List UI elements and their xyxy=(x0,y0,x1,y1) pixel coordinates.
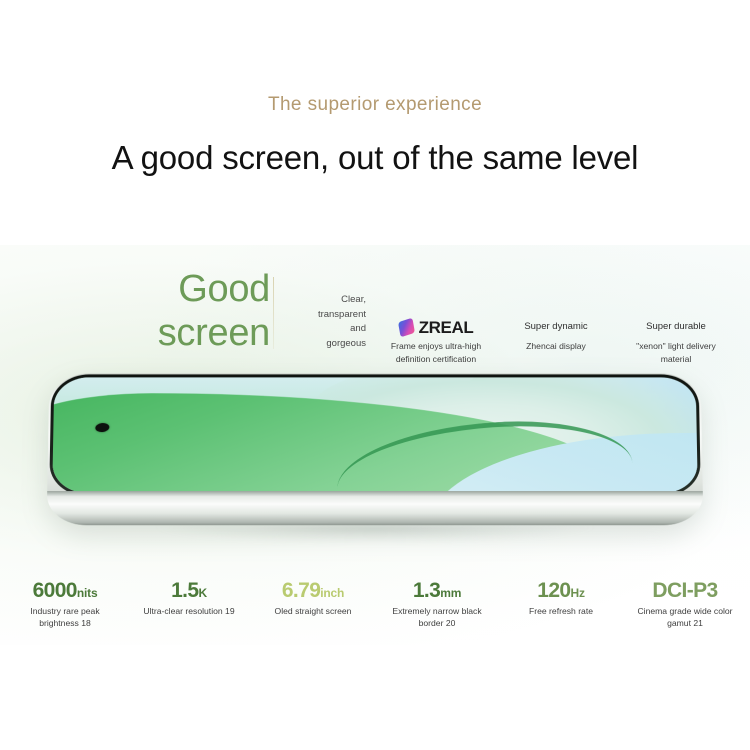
phone-body xyxy=(47,373,704,525)
spec-unit: nits xyxy=(77,586,98,600)
spec-number: DCI-P3 xyxy=(652,579,717,602)
spec-unit: inch xyxy=(320,586,344,600)
spec-value: 1.5K xyxy=(140,580,238,601)
eyebrow-text: The superior experience xyxy=(0,95,750,114)
zreal-wordmark: ZREAL xyxy=(419,319,474,336)
good-screen-line-1: Good xyxy=(140,267,270,311)
certification-title: Super durable xyxy=(626,317,726,337)
tagline-line-4: gorgeous xyxy=(282,337,366,352)
spec-label: Industry rare peak brightness 18 xyxy=(16,605,114,630)
tagline-block: Clear, transparent and gorgeous xyxy=(282,293,366,352)
spec-value: 1.3mm xyxy=(388,580,486,601)
spec-value: 6.79inch xyxy=(264,580,362,601)
tagline-line-3: and xyxy=(282,322,366,337)
phone-shadow xyxy=(95,525,655,559)
spec-number: 6000 xyxy=(33,579,77,602)
certification-row: ZREAL Frame enjoys ultra-high definition… xyxy=(386,317,726,366)
phone-metal-edge xyxy=(47,491,704,525)
spec-number: 6.79 xyxy=(282,579,320,602)
certification-subtitle: Zhencai display xyxy=(506,340,606,353)
spec-item-gamut: DCI-P3 Cinema grade wide color gamut 21 xyxy=(636,580,734,630)
good-screen-line-2: screen xyxy=(140,311,270,355)
spec-unit: mm xyxy=(440,586,461,600)
spec-item-brightness: 6000nits Industry rare peak brightness 1… xyxy=(16,580,114,630)
phone-screen xyxy=(52,377,698,493)
spec-label: Oled straight screen xyxy=(264,605,362,617)
spec-label: Free refresh rate xyxy=(512,605,610,617)
zreal-logo: ZREAL xyxy=(386,317,486,337)
certification-subtitle: "xenon" light delivery material xyxy=(626,340,726,366)
spec-strip: 6000nits Industry rare peak brightness 1… xyxy=(0,580,750,630)
spec-unit: Hz xyxy=(570,586,584,600)
spec-item-refresh: 120Hz Free refresh rate xyxy=(512,580,610,617)
spec-item-size: 6.79inch Oled straight screen xyxy=(264,580,362,617)
spec-number: 1.5 xyxy=(171,579,198,602)
spec-label: Cinema grade wide color gamut 21 xyxy=(636,605,734,630)
vertical-divider xyxy=(273,277,274,349)
spec-item-bezel: 1.3mm Extremely narrow black border 20 xyxy=(388,580,486,630)
spec-label: Extremely narrow black border 20 xyxy=(388,605,486,630)
phone-bezel xyxy=(49,374,701,496)
page-header: The superior experience A good screen, o… xyxy=(0,0,750,176)
zreal-diamond-icon xyxy=(398,317,415,337)
certification-item-durable: Super durable "xenon" light delivery mat… xyxy=(626,317,726,366)
spec-value: DCI-P3 xyxy=(636,580,734,601)
certification-subtitle: Frame enjoys ultra-high definition certi… xyxy=(386,340,486,366)
spec-number: 1.3 xyxy=(413,579,440,602)
page-title: A good screen, out of the same level xyxy=(0,140,750,176)
tagline-line-1: Clear, xyxy=(282,293,366,308)
spec-number: 120 xyxy=(537,579,570,602)
certification-item-zreal: ZREAL Frame enjoys ultra-high definition… xyxy=(386,317,486,366)
good-screen-heading: Good screen xyxy=(140,267,270,355)
spec-unit: K xyxy=(198,586,206,600)
phone-product-image xyxy=(40,373,710,573)
tagline-line-2: transparent xyxy=(282,308,366,323)
certification-item-dynamic: Super dynamic Zhencai display xyxy=(506,317,606,353)
spec-value: 120Hz xyxy=(512,580,610,601)
spec-value: 6000nits xyxy=(16,580,114,601)
certification-title: Super dynamic xyxy=(506,317,606,337)
spec-item-resolution: 1.5K Ultra-clear resolution 19 xyxy=(140,580,238,617)
spec-label: Ultra-clear resolution 19 xyxy=(140,605,238,617)
